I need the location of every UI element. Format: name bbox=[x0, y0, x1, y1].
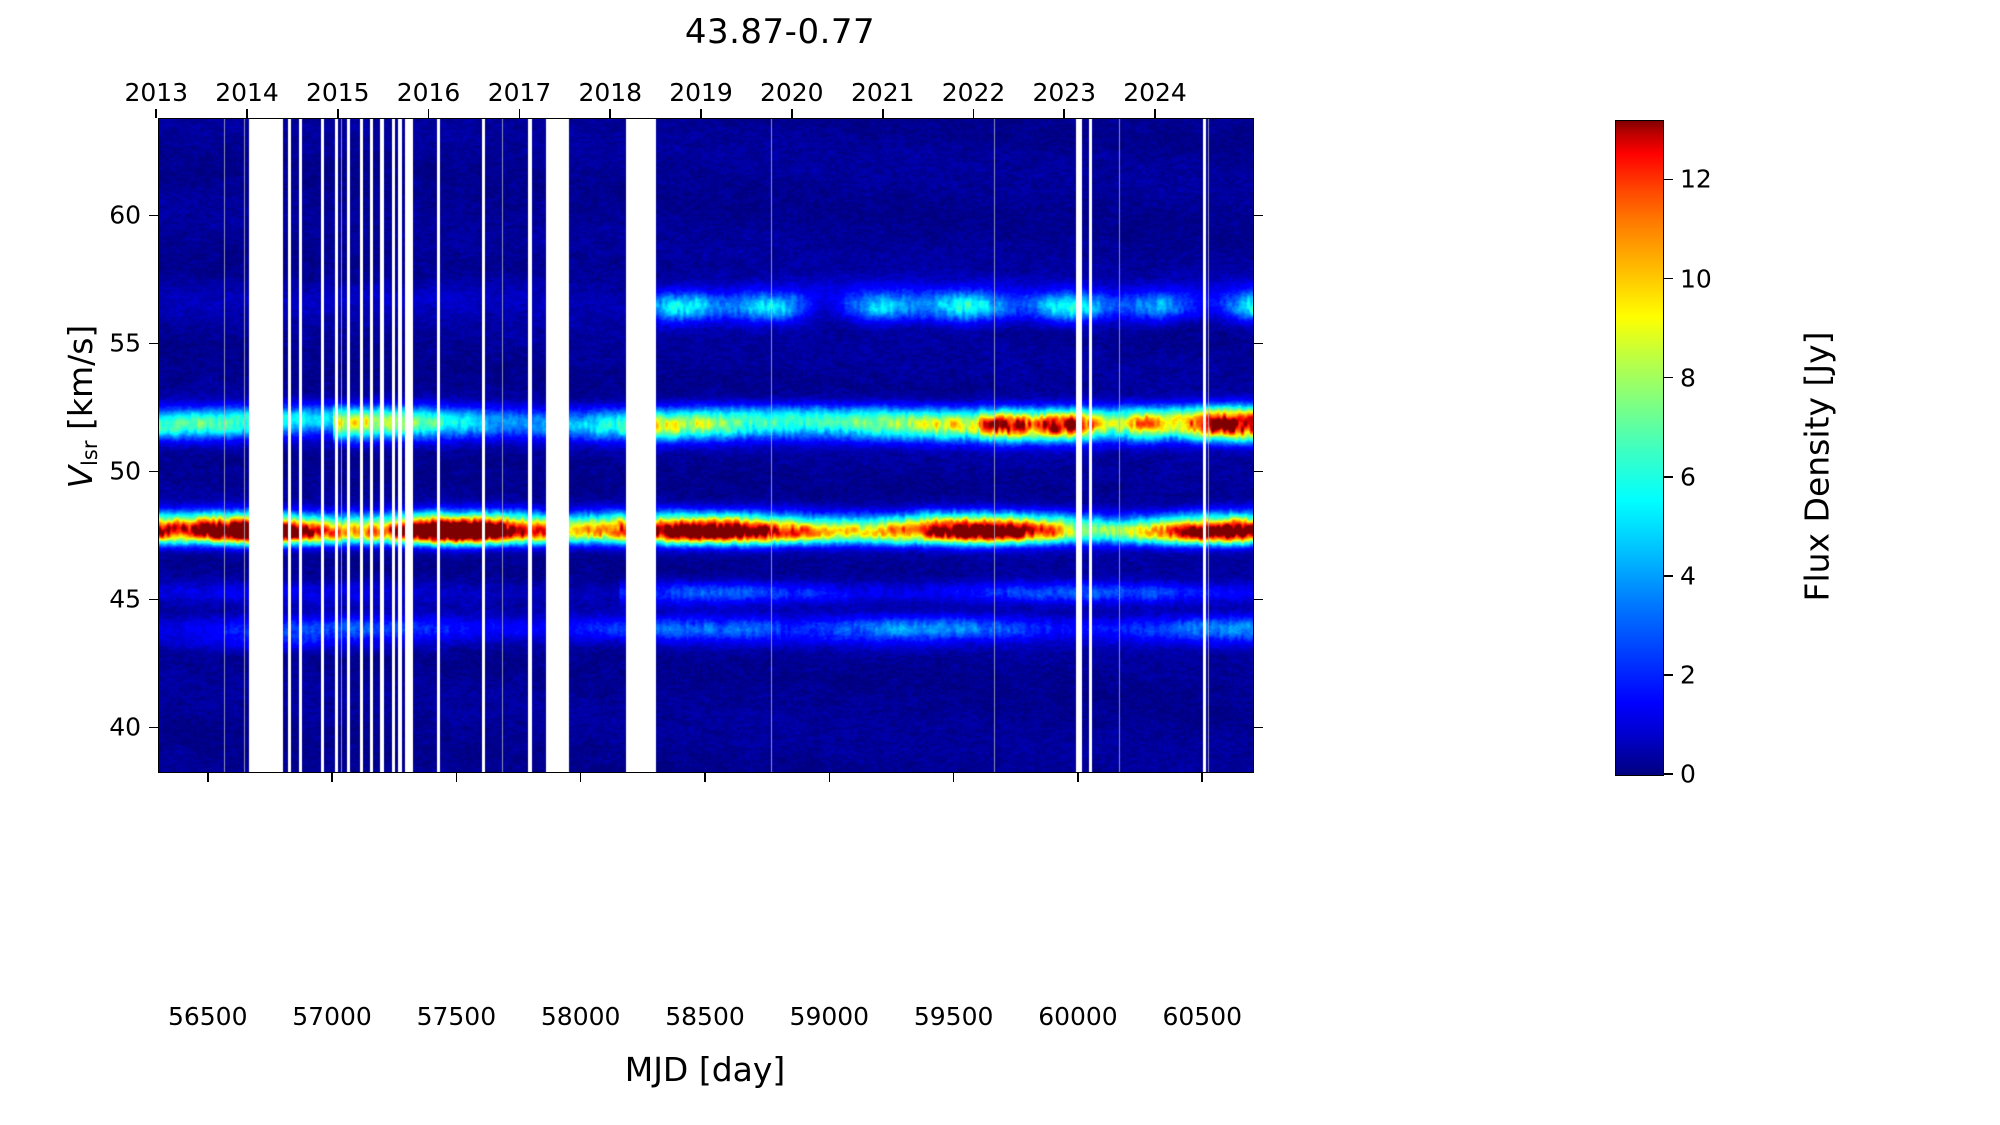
x-tick-bottom bbox=[1077, 773, 1079, 782]
spectrogram-axes bbox=[158, 118, 1254, 773]
colorbar-tick bbox=[1664, 377, 1673, 379]
year-ticklabel: 2021 bbox=[851, 78, 915, 107]
x-ticklabel-bottom: 57000 bbox=[292, 1002, 372, 1031]
x-ticklabel-bottom: 60000 bbox=[1038, 1002, 1118, 1031]
x-tick-bottom bbox=[580, 773, 582, 782]
x-ticklabel-bottom: 59500 bbox=[914, 1002, 994, 1031]
y-tick-left bbox=[149, 471, 158, 473]
y-tick-right bbox=[1254, 471, 1263, 473]
year-tick bbox=[428, 109, 430, 118]
y-axis-label-unit: [km/s] bbox=[61, 325, 100, 441]
spectrogram-image bbox=[159, 119, 1253, 772]
x-tick-bottom bbox=[331, 773, 333, 782]
x-ticklabel-bottom: 58500 bbox=[665, 1002, 745, 1031]
y-axis-label-subscript: lsr bbox=[78, 441, 102, 466]
colorbar-ticklabel: 8 bbox=[1680, 363, 1696, 392]
year-ticklabel: 2017 bbox=[488, 78, 552, 107]
year-ticklabel: 2022 bbox=[942, 78, 1006, 107]
colorbar-ticklabel: 6 bbox=[1680, 462, 1696, 491]
year-ticklabel: 2015 bbox=[306, 78, 370, 107]
year-tick bbox=[609, 109, 611, 118]
y-tick-left bbox=[149, 599, 158, 601]
colorbar-ticklabel: 12 bbox=[1680, 165, 1712, 194]
y-tick-right bbox=[1254, 727, 1263, 729]
y-axis-label: Vlsr [km/s] bbox=[61, 80, 102, 733]
year-ticklabel: 2018 bbox=[578, 78, 642, 107]
year-tick bbox=[1154, 109, 1156, 118]
x-tick-bottom bbox=[1201, 773, 1203, 782]
x-tick-bottom bbox=[704, 773, 706, 782]
year-tick bbox=[1063, 109, 1065, 118]
colorbar-ticklabel: 4 bbox=[1680, 561, 1696, 590]
colorbar-tick bbox=[1664, 575, 1673, 577]
x-ticklabel-bottom: 57500 bbox=[417, 1002, 497, 1031]
x-ticklabel-bottom: 60500 bbox=[1163, 1002, 1243, 1031]
year-tick bbox=[791, 109, 793, 118]
x-axis-label: MJD [day] bbox=[158, 1050, 1252, 1089]
colorbar-tick bbox=[1664, 278, 1673, 280]
year-tick bbox=[246, 109, 248, 118]
year-tick bbox=[700, 109, 702, 118]
year-ticklabel: 2023 bbox=[1032, 78, 1096, 107]
colorbar-tick bbox=[1664, 179, 1673, 181]
y-tick-left bbox=[149, 727, 158, 729]
colorbar-ticklabel: 10 bbox=[1680, 264, 1712, 293]
page-title: 43.87-0.77 bbox=[0, 12, 1560, 52]
x-tick-bottom bbox=[207, 773, 209, 782]
year-ticklabel: 2024 bbox=[1123, 78, 1187, 107]
x-ticklabel-bottom: 59000 bbox=[790, 1002, 870, 1031]
colorbar-gradient bbox=[1616, 121, 1663, 775]
colorbar-ticklabel: 2 bbox=[1680, 660, 1696, 689]
year-tick bbox=[519, 109, 521, 118]
year-tick bbox=[882, 109, 884, 118]
y-tick-left bbox=[149, 215, 158, 217]
year-tick bbox=[973, 109, 975, 118]
year-tick bbox=[337, 109, 339, 118]
colorbar-tick bbox=[1664, 674, 1673, 676]
year-ticklabel: 2014 bbox=[215, 78, 279, 107]
x-tick-bottom bbox=[456, 773, 458, 782]
y-axis-label-symbol: V bbox=[61, 466, 100, 489]
year-ticklabel: 2020 bbox=[760, 78, 824, 107]
year-tick bbox=[155, 109, 157, 118]
colorbar-tick bbox=[1664, 476, 1673, 478]
y-tick-right bbox=[1254, 599, 1263, 601]
year-ticklabel: 2019 bbox=[669, 78, 733, 107]
x-tick-bottom bbox=[829, 773, 831, 782]
year-ticklabel: 2016 bbox=[397, 78, 461, 107]
year-ticklabel: 2013 bbox=[124, 78, 188, 107]
colorbar-ticklabel: 0 bbox=[1680, 760, 1696, 789]
y-tick-right bbox=[1254, 343, 1263, 345]
y-tick-right bbox=[1254, 215, 1263, 217]
colorbar bbox=[1615, 120, 1664, 776]
colorbar-tick bbox=[1664, 773, 1673, 775]
x-tick-bottom bbox=[953, 773, 955, 782]
x-ticklabel-bottom: 56500 bbox=[168, 1002, 248, 1031]
colorbar-label: Flux Density [Jy] bbox=[1798, 140, 1837, 794]
y-tick-left bbox=[149, 343, 158, 345]
x-ticklabel-bottom: 58000 bbox=[541, 1002, 621, 1031]
dynamic-spectrum-figure: 43.87-0.77 56500570005750058000585005900… bbox=[0, 0, 2000, 1125]
